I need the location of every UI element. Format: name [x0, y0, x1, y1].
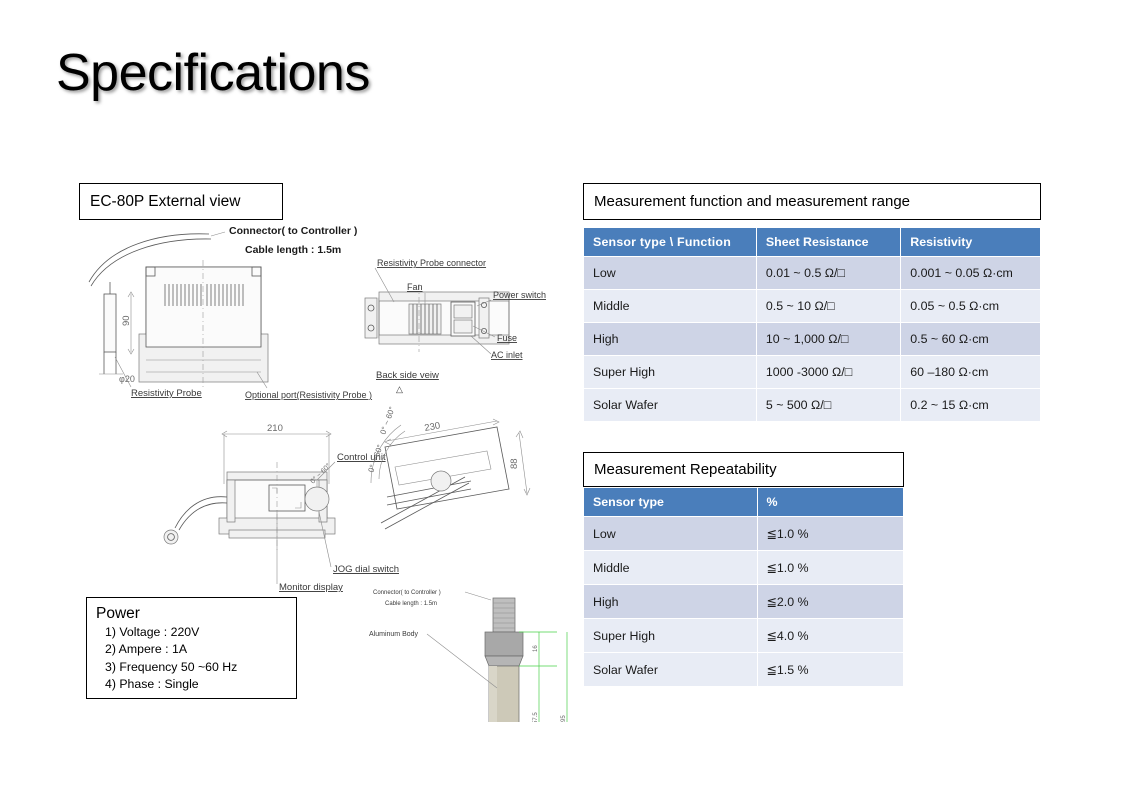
cell-sensor-type: Low	[584, 517, 757, 550]
label-resistivity-probe: Resistivity Probe	[131, 388, 202, 399]
jog-dial-knob	[305, 487, 329, 511]
cell-sheet-resistance: 0.5 ~ 10 Ω/□	[757, 290, 900, 322]
triangle-mark-icon: △	[396, 384, 403, 394]
tilt-plate	[385, 427, 509, 509]
measurement-range-table: Sensor type \ Function Sheet Resistance …	[583, 227, 1041, 422]
cell-resistivity: 0.5 ~ 60 Ω·cm	[901, 323, 1040, 355]
back-view-body	[379, 298, 509, 338]
probe-body	[104, 294, 116, 352]
dim-210: 210	[267, 423, 283, 434]
tilted-unit-view: 230 88 0° ~ 60° 0° ~ 60°	[366, 405, 530, 529]
cell-resistivity: 0.05 ~ 0.5 Ω·cm	[901, 290, 1040, 322]
label-resistivity-probe-connector: Resistivity Probe connector	[377, 258, 486, 268]
dim-88: 88	[509, 458, 520, 469]
cell-sensor-type: Middle	[584, 551, 757, 584]
range-table-label-box: Measurement function and measurement ran…	[583, 183, 1041, 220]
cell-sheet-resistance: 1000 -3000 Ω/□	[757, 356, 900, 388]
ec80p-technical-drawing: Connector( to Controller ) Cable length …	[79, 222, 579, 722]
label-optional-port: Optional port(Resistivity Probe )	[245, 390, 372, 400]
label-power-switch: Power switch	[493, 290, 546, 300]
table-row: Low ≦1.0 %	[584, 517, 903, 550]
cell-sensor-type: Low	[584, 257, 756, 289]
cell-resistivity: 60 –180 Ω·cm	[901, 356, 1040, 388]
cell-sensor-type: Solar Wafer	[584, 653, 757, 686]
cell-sheet-resistance: 10 ~ 1,000 Ω/□	[757, 323, 900, 355]
cable-connector-ring	[164, 530, 178, 544]
label-jog-dial-switch: JOG dial switch	[333, 564, 399, 575]
dim-90: 90	[121, 315, 132, 326]
cell-sensor-type: Middle	[584, 290, 756, 322]
column-header-sensor-type: Sensor type	[584, 488, 757, 516]
external-view-label: EC-80P External view	[90, 193, 240, 211]
table-header-row: Sensor type %	[584, 488, 903, 516]
tilt-pivot	[431, 471, 451, 491]
page-title: Specifications	[56, 46, 370, 101]
table-header-row: Sensor type \ Function Sheet Resistance …	[584, 228, 1040, 256]
label-fan: Fan	[407, 282, 423, 292]
table-row: Middle ≦1.0 %	[584, 551, 903, 584]
cell-percent: ≦4.0 %	[758, 619, 904, 652]
column-header-resistivity: Resistivity	[901, 228, 1040, 256]
label-probe-connector: Connector( to Controller )	[373, 590, 441, 596]
connector-leader	[211, 232, 225, 236]
back-mount-right	[479, 298, 489, 338]
cell-percent: ≦2.0 %	[758, 585, 904, 618]
cell-percent: ≦1.5 %	[758, 653, 904, 686]
label-cable-length: Cable length : 1.5m	[245, 244, 341, 256]
table-row: Solar Wafer ≦1.5 %	[584, 653, 903, 686]
back-view-bottom	[379, 335, 509, 344]
column-header-percent: %	[758, 488, 904, 516]
cell-sensor-type: High	[584, 323, 756, 355]
cell-sensor-type: High	[584, 585, 757, 618]
front-view-upper	[146, 267, 261, 347]
table-row: High 10 ~ 1,000 Ω/□ 0.5 ~ 60 Ω·cm	[584, 323, 1040, 355]
cell-sensor-type: Super High	[584, 619, 757, 652]
dim-16: 16	[533, 645, 539, 652]
probe-connector-top	[493, 598, 515, 632]
label-fuse: Fuse	[497, 333, 517, 343]
probe-connector-leader2	[465, 592, 491, 600]
table-row: Solar Wafer 5 ~ 500 Ω/□ 0.2 ~ 15 Ω·cm	[584, 389, 1040, 421]
slide-canvas: Specifications EC-80P External view Meas…	[0, 0, 1123, 794]
cell-resistivity: 0.2 ~ 15 Ω·cm	[901, 389, 1040, 421]
cell-sheet-resistance: 5 ~ 500 Ω/□	[757, 389, 900, 421]
column-header-sheet-resistance: Sheet Resistance	[757, 228, 900, 256]
ac-inlet-socket	[454, 320, 472, 333]
range-table-label: Measurement function and measurement ran…	[594, 193, 910, 210]
dim-95: 95	[561, 715, 567, 722]
dim-88-line	[519, 433, 527, 493]
dim-230-line	[387, 421, 497, 441]
dim-230-arrows	[385, 419, 499, 445]
label-monitor-display: Monitor display	[279, 582, 343, 593]
probe-detail-view: Connector( to Controller ) Cable length …	[367, 590, 575, 722]
cell-resistivity: 0.001 ~ 0.05 Ω·cm	[901, 257, 1040, 289]
label-back-side-view: Back side veiw	[376, 370, 439, 381]
column-header-sensor-type: Sensor type \ Function	[584, 228, 756, 256]
cell-sheet-resistance: 0.01 ~ 0.5 Ω/□	[757, 257, 900, 289]
repeat-table-label-box: Measurement Repeatability	[583, 452, 904, 487]
table-row: High ≦2.0 %	[584, 585, 903, 618]
table-row: Low 0.01 ~ 0.5 Ω/□ 0.001 ~ 0.05 Ω·cm	[584, 257, 1040, 289]
monitor-display-screen	[269, 485, 305, 511]
table-row: Super High ≦4.0 %	[584, 619, 903, 652]
control-unit-left-panel	[227, 480, 235, 522]
table-row: Middle 0.5 ~ 10 Ω/□ 0.05 ~ 0.5 Ω·cm	[584, 290, 1040, 322]
cell-sensor-type: Super High	[584, 356, 756, 388]
label-aluminum-body: Aluminum Body	[369, 631, 419, 638]
label-probe-cable-length: Cable length : 1.5m	[385, 601, 437, 607]
table-row: Super High 1000 -3000 Ω/□ 60 –180 Ω·cm	[584, 356, 1040, 388]
tilt-leg-3	[381, 477, 465, 523]
cell-percent: ≦1.0 %	[758, 517, 904, 550]
measurement-repeatability-table: Sensor type % Low ≦1.0 % Middle ≦1.0 % H…	[583, 487, 904, 687]
external-view-label-box: EC-80P External view	[79, 183, 283, 220]
label-connector: Connector( to Controller )	[229, 225, 357, 237]
label-ac-inlet: AC inlet	[491, 350, 523, 360]
cell-sensor-type: Solar Wafer	[584, 389, 756, 421]
probe-collar	[485, 632, 523, 656]
dim-575: 57.5	[533, 712, 539, 722]
probe-body-highlight	[489, 666, 497, 722]
back-mount-left	[365, 298, 377, 338]
repeat-table-label: Measurement Repeatability	[594, 461, 777, 478]
back-view-top	[379, 292, 509, 301]
cell-percent: ≦1.0 %	[758, 551, 904, 584]
probe-taper	[485, 656, 523, 666]
power-switch-rocker	[454, 305, 472, 318]
fan-grille-bars	[413, 304, 437, 334]
tilt-leg-4	[385, 483, 469, 529]
angle-label-top: 0° ~ 60°	[378, 405, 396, 435]
